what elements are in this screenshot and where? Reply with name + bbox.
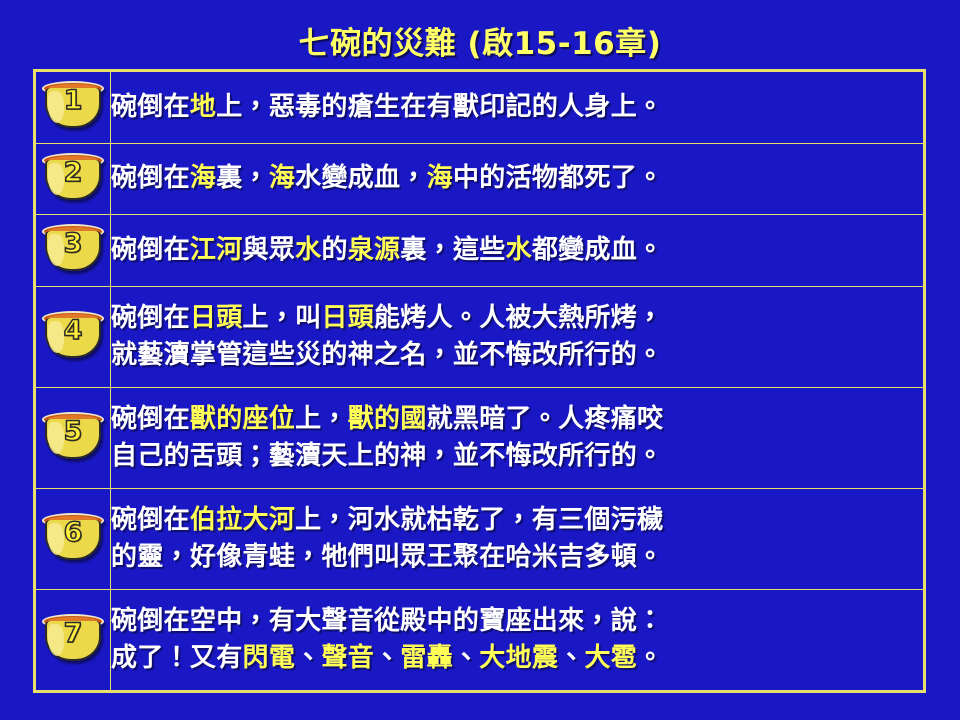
highlighted-text: 日頭 xyxy=(321,303,374,333)
plain-text: 上，惡毒的瘡生在有獸印記的人身上。 xyxy=(216,92,663,122)
plague-text-line: 碗倒在江河與眾水的泉源裏，這些水都變成血。 xyxy=(111,232,923,269)
plague-text-line: 就藝瀆掌管這些災的神之名，並不悔改所行的。 xyxy=(111,337,923,374)
highlighted-text: 日頭 xyxy=(190,303,243,333)
highlighted-text: 大雹 xyxy=(585,643,638,673)
highlighted-text: 閃電 xyxy=(243,643,296,673)
highlighted-text: 雷轟 xyxy=(400,643,453,673)
plague-text-line: 自己的舌頭；藝瀆天上的神，並不悔改所行的。 xyxy=(111,438,923,475)
plain-text: 就黑暗了。人疼痛咬 xyxy=(427,404,664,434)
plain-text: 裏， xyxy=(216,163,269,193)
bowl-icon: 5 xyxy=(42,412,104,460)
table-row: 6碗倒在伯拉大河上，河水就枯乾了，有三個污穢的靈，好像青蛙，牠們叫眾王聚在哈米吉… xyxy=(36,488,924,589)
plain-text: 、 xyxy=(558,643,584,673)
highlighted-text: 海 xyxy=(269,163,295,193)
bowl-number-label: 1 xyxy=(42,87,104,114)
highlighted-text: 大地震 xyxy=(479,643,558,673)
plain-text: 碗倒在空中，有大聲音從殿中的寶座出來，說： xyxy=(111,606,663,636)
plain-text: 、 xyxy=(453,643,479,673)
plague-text-cell: 碗倒在地上，惡毒的瘡生在有獸印記的人身上。 xyxy=(111,72,924,144)
highlighted-text: 水 xyxy=(295,235,321,265)
bowl-number-label: 3 xyxy=(42,230,104,257)
plain-text: 、 xyxy=(374,643,400,673)
highlighted-text: 水 xyxy=(506,235,532,265)
highlighted-text: 伯拉大河 xyxy=(190,505,295,535)
highlighted-text: 泉源 xyxy=(348,235,401,265)
plain-text: 的 xyxy=(321,235,347,265)
plain-text: 能烤人。人被大熱所烤， xyxy=(374,303,663,333)
plain-text: 碗倒在 xyxy=(111,163,190,193)
plain-text: 、 xyxy=(295,643,321,673)
plain-text: 上， xyxy=(295,404,348,434)
plain-text: 與眾 xyxy=(243,235,296,265)
plain-text: 成了！又有 xyxy=(111,643,243,673)
plague-text-line: 成了！又有閃電、聲音、雷轟、大地震、大雹。 xyxy=(111,640,923,677)
table-row: 4碗倒在日頭上，叫日頭能烤人。人被大熱所烤，就藝瀆掌管這些災的神之名，並不悔改所… xyxy=(36,286,924,387)
plain-text: 碗倒在 xyxy=(111,303,190,333)
plain-text: 中的活物都死了。 xyxy=(453,163,663,193)
table-row: 1碗倒在地上，惡毒的瘡生在有獸印記的人身上。 xyxy=(36,72,924,144)
bowl-number-label: 6 xyxy=(42,519,104,546)
bowl-number-label: 7 xyxy=(42,620,104,647)
bowl-icon: 2 xyxy=(42,153,104,201)
plague-text-line: 碗倒在地上，惡毒的瘡生在有獸印記的人身上。 xyxy=(111,89,923,126)
plague-text-cell: 碗倒在日頭上，叫日頭能烤人。人被大熱所烤，就藝瀆掌管這些災的神之名，並不悔改所行… xyxy=(111,286,924,387)
highlighted-text: 聲音 xyxy=(321,643,374,673)
seven-bowls-table-wrapper: 1碗倒在地上，惡毒的瘡生在有獸印記的人身上。2碗倒在海裏，海水變成血，海中的活物… xyxy=(33,69,926,693)
table-row: 3碗倒在江河與眾水的泉源裏，這些水都變成血。 xyxy=(36,215,924,287)
plain-text: 自己的舌頭；藝瀆天上的神，並不悔改所行的。 xyxy=(111,441,663,471)
plain-text: 。 xyxy=(637,643,663,673)
bowl-icon: 1 xyxy=(42,81,104,129)
plain-text: 碗倒在 xyxy=(111,404,190,434)
plain-text: 水變成血， xyxy=(295,163,427,193)
plague-text-line: 碗倒在日頭上，叫日頭能烤人。人被大熱所烤， xyxy=(111,300,923,337)
bowl-icon: 7 xyxy=(42,614,104,662)
slide-canvas: 七碗的災難 (啟15-16章) 1碗倒在地上，惡毒的瘡生在有獸印記的人身上。2碗… xyxy=(0,0,960,720)
highlighted-text: 江河 xyxy=(190,235,243,265)
highlighted-text: 獸的國 xyxy=(348,404,427,434)
plague-text-cell: 碗倒在江河與眾水的泉源裏，這些水都變成血。 xyxy=(111,215,924,287)
plain-text: 碗倒在 xyxy=(111,235,190,265)
bowl-number-cell: 5 xyxy=(36,387,111,488)
plain-text: 的靈，好像青蛙，牠們叫眾王聚在哈米吉多頓。 xyxy=(111,542,663,572)
highlighted-text: 地 xyxy=(190,92,216,122)
plague-text-cell: 碗倒在海裏，海水變成血，海中的活物都死了。 xyxy=(111,143,924,215)
bowl-number-cell: 1 xyxy=(36,72,111,144)
bowl-number-label: 4 xyxy=(42,317,104,344)
plain-text: 碗倒在 xyxy=(111,92,190,122)
plague-text-line: 碗倒在伯拉大河上，河水就枯乾了，有三個污穢 xyxy=(111,502,923,539)
highlighted-text: 獸的座位 xyxy=(190,404,295,434)
bowl-number-label: 5 xyxy=(42,418,104,445)
plague-text-line: 碗倒在獸的座位上，獸的國就黑暗了。人疼痛咬 xyxy=(111,401,923,438)
plague-text-line: 碗倒在海裏，海水變成血，海中的活物都死了。 xyxy=(111,160,923,197)
page-title: 七碗的災難 (啟15-16章) xyxy=(0,18,960,63)
bowl-number-cell: 7 xyxy=(36,589,111,690)
highlighted-text: 海 xyxy=(427,163,453,193)
table-row: 5碗倒在獸的座位上，獸的國就黑暗了。人疼痛咬自己的舌頭；藝瀆天上的神，並不悔改所… xyxy=(36,387,924,488)
bowl-icon: 3 xyxy=(42,224,104,272)
bowl-icon: 4 xyxy=(42,311,104,359)
plague-text-cell: 碗倒在伯拉大河上，河水就枯乾了，有三個污穢的靈，好像青蛙，牠們叫眾王聚在哈米吉多… xyxy=(111,488,924,589)
plain-text: 碗倒在 xyxy=(111,505,190,535)
seven-bowls-table: 1碗倒在地上，惡毒的瘡生在有獸印記的人身上。2碗倒在海裏，海水變成血，海中的活物… xyxy=(35,71,924,691)
table-row: 7碗倒在空中，有大聲音從殿中的寶座出來，說：成了！又有閃電、聲音、雷轟、大地震、… xyxy=(36,589,924,690)
bowl-number-cell: 2 xyxy=(36,143,111,215)
bowl-number-cell: 3 xyxy=(36,215,111,287)
plain-text: 就藝瀆掌管這些災的神之名，並不悔改所行的。 xyxy=(111,340,663,370)
bowl-number-cell: 4 xyxy=(36,286,111,387)
plain-text: 上，河水就枯乾了，有三個污穢 xyxy=(295,505,663,535)
bowl-number-label: 2 xyxy=(42,159,104,186)
highlighted-text: 海 xyxy=(190,163,216,193)
plain-text: 都變成血。 xyxy=(532,235,664,265)
bowl-number-cell: 6 xyxy=(36,488,111,589)
plague-text-line: 碗倒在空中，有大聲音從殿中的寶座出來，說： xyxy=(111,603,923,640)
table-row: 2碗倒在海裏，海水變成血，海中的活物都死了。 xyxy=(36,143,924,215)
bowl-icon: 6 xyxy=(42,513,104,561)
plain-text: 裏，這些 xyxy=(400,235,505,265)
plague-text-cell: 碗倒在獸的座位上，獸的國就黑暗了。人疼痛咬自己的舌頭；藝瀆天上的神，並不悔改所行… xyxy=(111,387,924,488)
plain-text: 上，叫 xyxy=(243,303,322,333)
seven-bowls-table-body: 1碗倒在地上，惡毒的瘡生在有獸印記的人身上。2碗倒在海裏，海水變成血，海中的活物… xyxy=(36,72,924,691)
plague-text-line: 的靈，好像青蛙，牠們叫眾王聚在哈米吉多頓。 xyxy=(111,539,923,576)
plague-text-cell: 碗倒在空中，有大聲音從殿中的寶座出來，說：成了！又有閃電、聲音、雷轟、大地震、大… xyxy=(111,589,924,690)
